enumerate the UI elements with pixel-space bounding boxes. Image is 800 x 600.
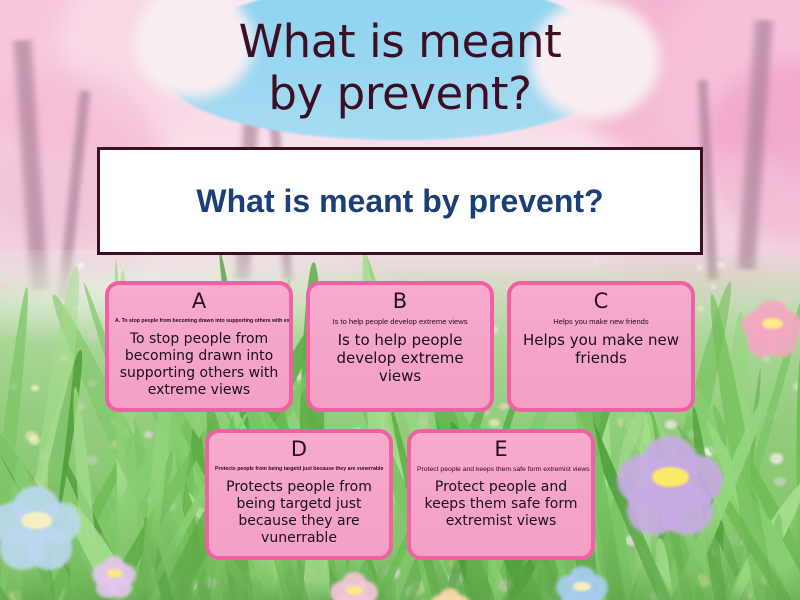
answer-card-c[interactable]: C Helps you make new friends Helps you m… (507, 281, 695, 412)
answer-text-d: Protects people from being targetd just … (215, 479, 383, 547)
answer-text-e: Protect people and keeps them safe form … (417, 479, 585, 530)
answer-letter-d: D (215, 437, 383, 461)
flower-2 (742, 300, 800, 360)
answer-letter-c: C (517, 289, 685, 313)
answer-text-b: Is to help people develop extreme views (316, 331, 484, 385)
quiz-slide: What is meant by prevent? What is meant … (0, 0, 800, 600)
answer-card-b[interactable]: B Is to help people develop extreme view… (306, 281, 494, 412)
page-title: What is meant by prevent? (0, 16, 800, 120)
flower-1 (0, 486, 80, 574)
answer-letter-a: A (115, 289, 283, 313)
answer-row-top: A A. To stop people from becoming drawn … (105, 281, 695, 412)
answer-card-e[interactable]: E Protect people and keeps them safe for… (407, 429, 595, 560)
answer-card-d[interactable]: D Protects people from being targetd jus… (205, 429, 393, 560)
question-text: What is meant by prevent? (196, 183, 603, 220)
page-title-line-2: by prevent? (0, 68, 800, 120)
answer-text-c: Helps you make new friends (517, 331, 685, 367)
answer-row-bottom: D Protects people from being targetd jus… (205, 429, 595, 560)
answer-letter-b: B (316, 289, 484, 313)
answer-small-label-a: A. To stop people from becoming drawn in… (115, 317, 283, 326)
flower-4 (330, 572, 378, 600)
answer-card-a[interactable]: A A. To stop people from becoming drawn … (105, 281, 293, 412)
answer-small-label-b: Is to help people develop extreme views (316, 317, 484, 326)
question-box: What is meant by prevent? (97, 147, 703, 255)
flower-3 (556, 566, 608, 600)
flower-6 (430, 588, 470, 600)
answer-small-label-c: Helps you make new friends (517, 317, 685, 326)
flower-0 (618, 436, 722, 540)
answer-letter-e: E (417, 437, 585, 461)
page-title-line-1: What is meant (239, 15, 562, 68)
answer-small-label-e: Protect people and keeps them safe form … (417, 465, 585, 474)
answer-text-a: To stop people from becoming drawn into … (115, 331, 283, 399)
flower-5 (92, 556, 136, 600)
answer-small-label-d: Protects people from being targetd just … (215, 465, 383, 474)
